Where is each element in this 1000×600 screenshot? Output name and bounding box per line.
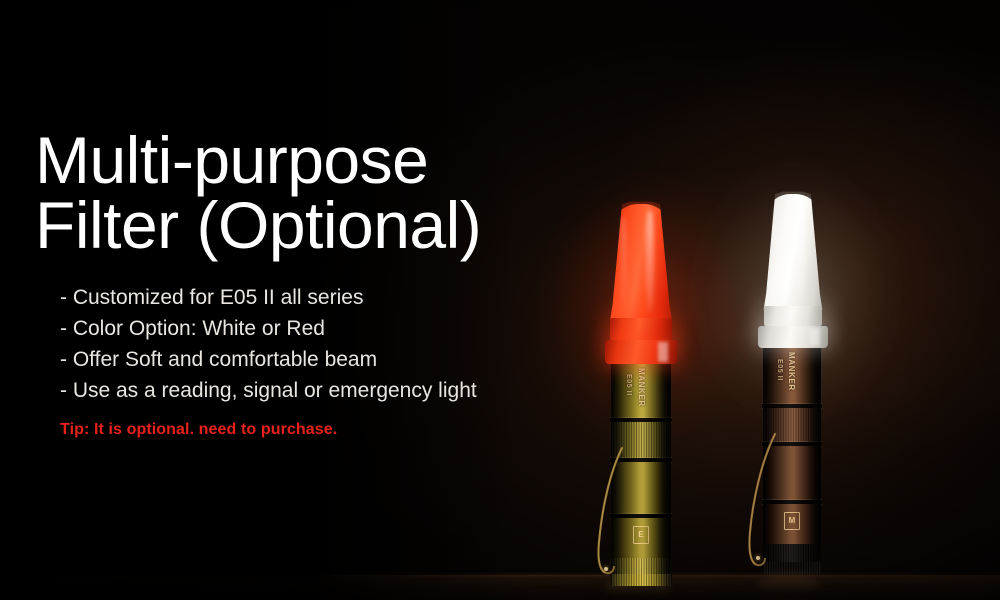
left-tailcap-knurling	[611, 558, 671, 586]
right-flashlight-body: MANKER E05 II M	[763, 346, 821, 562]
right-body-knurling-1	[763, 408, 821, 442]
background-floor	[0, 575, 1000, 600]
product-banner: MANKER E05 II E	[0, 0, 1000, 600]
page-title: Multi-purpose Filter (Optional)	[35, 128, 555, 257]
right-tailcap-knurling	[763, 544, 821, 574]
white-filter-cone	[761, 194, 825, 310]
left-body-tube	[611, 462, 671, 514]
right-brand-engraving: MANKER	[787, 352, 796, 391]
left-body-knurling-1	[611, 422, 671, 458]
red-filter-cone-base	[610, 318, 672, 340]
white-filter-cone-base	[764, 306, 822, 326]
right-model-engraving: E05 II	[776, 359, 783, 381]
white-filter-collar	[758, 326, 828, 348]
right-clip-highlight	[756, 556, 760, 560]
list-item: - Use as a reading, signal or emergency …	[60, 376, 555, 407]
left-brand-engraving: MANKER	[637, 368, 646, 407]
list-item: - Offer Soft and comfortable beam	[60, 345, 555, 376]
right-floor-reflection	[758, 574, 820, 594]
red-filter-collar	[605, 340, 677, 364]
feature-list: - Customized for E05 II all series - Col…	[35, 283, 555, 406]
purchase-tip-note: Tip: It is optional. need to purchase.	[60, 421, 555, 439]
list-item: - Customized for E05 II all series	[60, 283, 555, 314]
left-clip-highlight	[604, 567, 608, 571]
left-flashlight-body: MANKER E05 II E	[611, 362, 671, 574]
left-tail-badge: E	[633, 526, 649, 544]
right-tail-badge: M	[784, 512, 800, 530]
red-filter-cone	[607, 204, 675, 322]
marketing-copy: Multi-purpose Filter (Optional) - Custom…	[35, 128, 555, 439]
left-model-engraving: E05 II	[625, 374, 632, 396]
list-item: - Color Option: White or Red	[60, 314, 555, 345]
right-body-tube	[763, 446, 821, 500]
